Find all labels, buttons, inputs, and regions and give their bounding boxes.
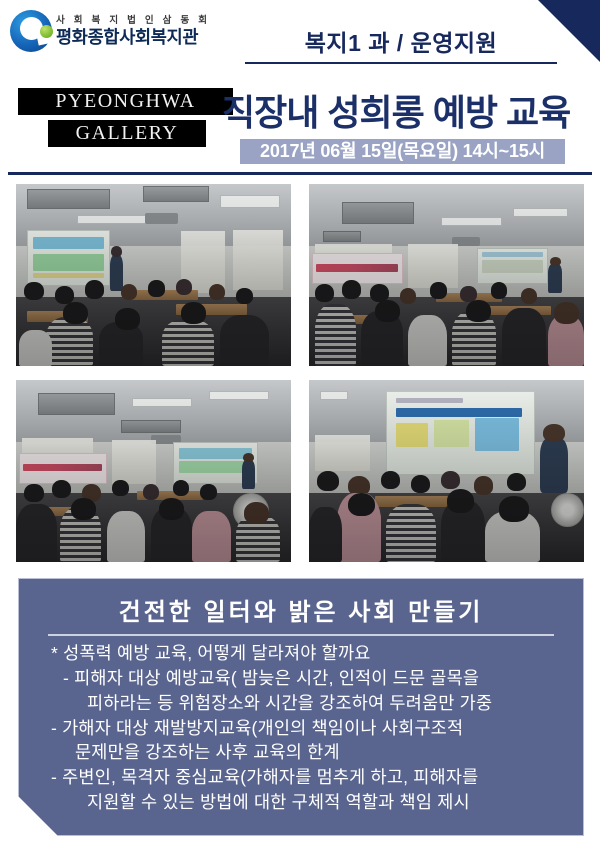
panel-line-7: 지원할 수 있는 방법에 대한 구체적 역할과 책임 제시: [51, 790, 569, 815]
panel-line-4: - 가해자 대상 재발방지교육(개인의 책임이나 사회구조적: [51, 716, 569, 741]
logo-green-dot-icon: [40, 25, 53, 38]
page-title: 직장내 성희롱 예방 교육: [222, 84, 570, 136]
panel-line-2: - 피해자 대상 예방교육( 밤늦은 시간, 인적이 드문 골목을: [51, 666, 569, 691]
photo-2-classroom-banner-wide: [309, 184, 584, 366]
summary-panel: 건전한 일터와 밝은 사회 만들기 * 성폭력 예방 교육, 어떻게 달라져야 …: [18, 578, 584, 836]
poster-header: 사 회 복 지 법 인 삼 동 회 평화종합사회복지관 복지1 과 / 운영지원…: [0, 0, 600, 172]
organization-logo-block: 사 회 복 지 법 인 삼 동 회 평화종합사회복지관: [8, 8, 210, 54]
panel-line-1: * 성폭력 예방 교육, 어떻게 달라져야 할까요: [51, 641, 569, 666]
gallery-wordmark: PYEONGHWA GALLERY: [18, 88, 233, 147]
panel-line-5: 문제만을 강조하는 사후 교육의 한계: [51, 740, 569, 765]
panel-body-text: * 성폭력 예방 교육, 어떻게 달라져야 할까요 - 피해자 대상 예방교육(…: [33, 641, 569, 815]
poster-root: 사 회 복 지 법 인 삼 동 회 평화종합사회복지관 복지1 과 / 운영지원…: [0, 0, 600, 849]
photo-3-classroom-banner-screen: [16, 380, 291, 562]
header-divider: [8, 172, 592, 175]
panel-line-6: - 주변인, 목격자 중심교육(가해자를 멈추게 하고, 피해자를: [51, 765, 569, 790]
corporation-name: 사 회 복 지 법 인 삼 동 회: [56, 16, 210, 26]
department-text: 복지1 과 / 운영지원: [305, 30, 497, 56]
department-divider: [245, 62, 557, 64]
gallery-box-gallery: GALLERY: [48, 120, 206, 147]
panel-heading: 건전한 일터와 밝은 사회 만들기: [33, 592, 569, 627]
pyeonghwa-ring-logo-icon: [8, 8, 54, 54]
photo-grid: [16, 184, 584, 564]
department-label: 복지1 과 / 운영지원: [245, 24, 557, 58]
gallery-box-pyeonghwa: PYEONGHWA: [18, 88, 233, 115]
photo-4-classroom-lecturer-slide: [309, 380, 584, 562]
event-date-badge: 2017년 06월 15일(목요일) 14시~15시: [240, 139, 565, 164]
panel-divider: [48, 634, 554, 636]
center-name: 평화종합사회복지관: [56, 29, 210, 47]
panel-line-3: 피하라는 등 위험장소와 시간을 강조하여 두려움만 가중: [51, 691, 569, 716]
photo-1-classroom-projector-intro: [16, 184, 291, 366]
